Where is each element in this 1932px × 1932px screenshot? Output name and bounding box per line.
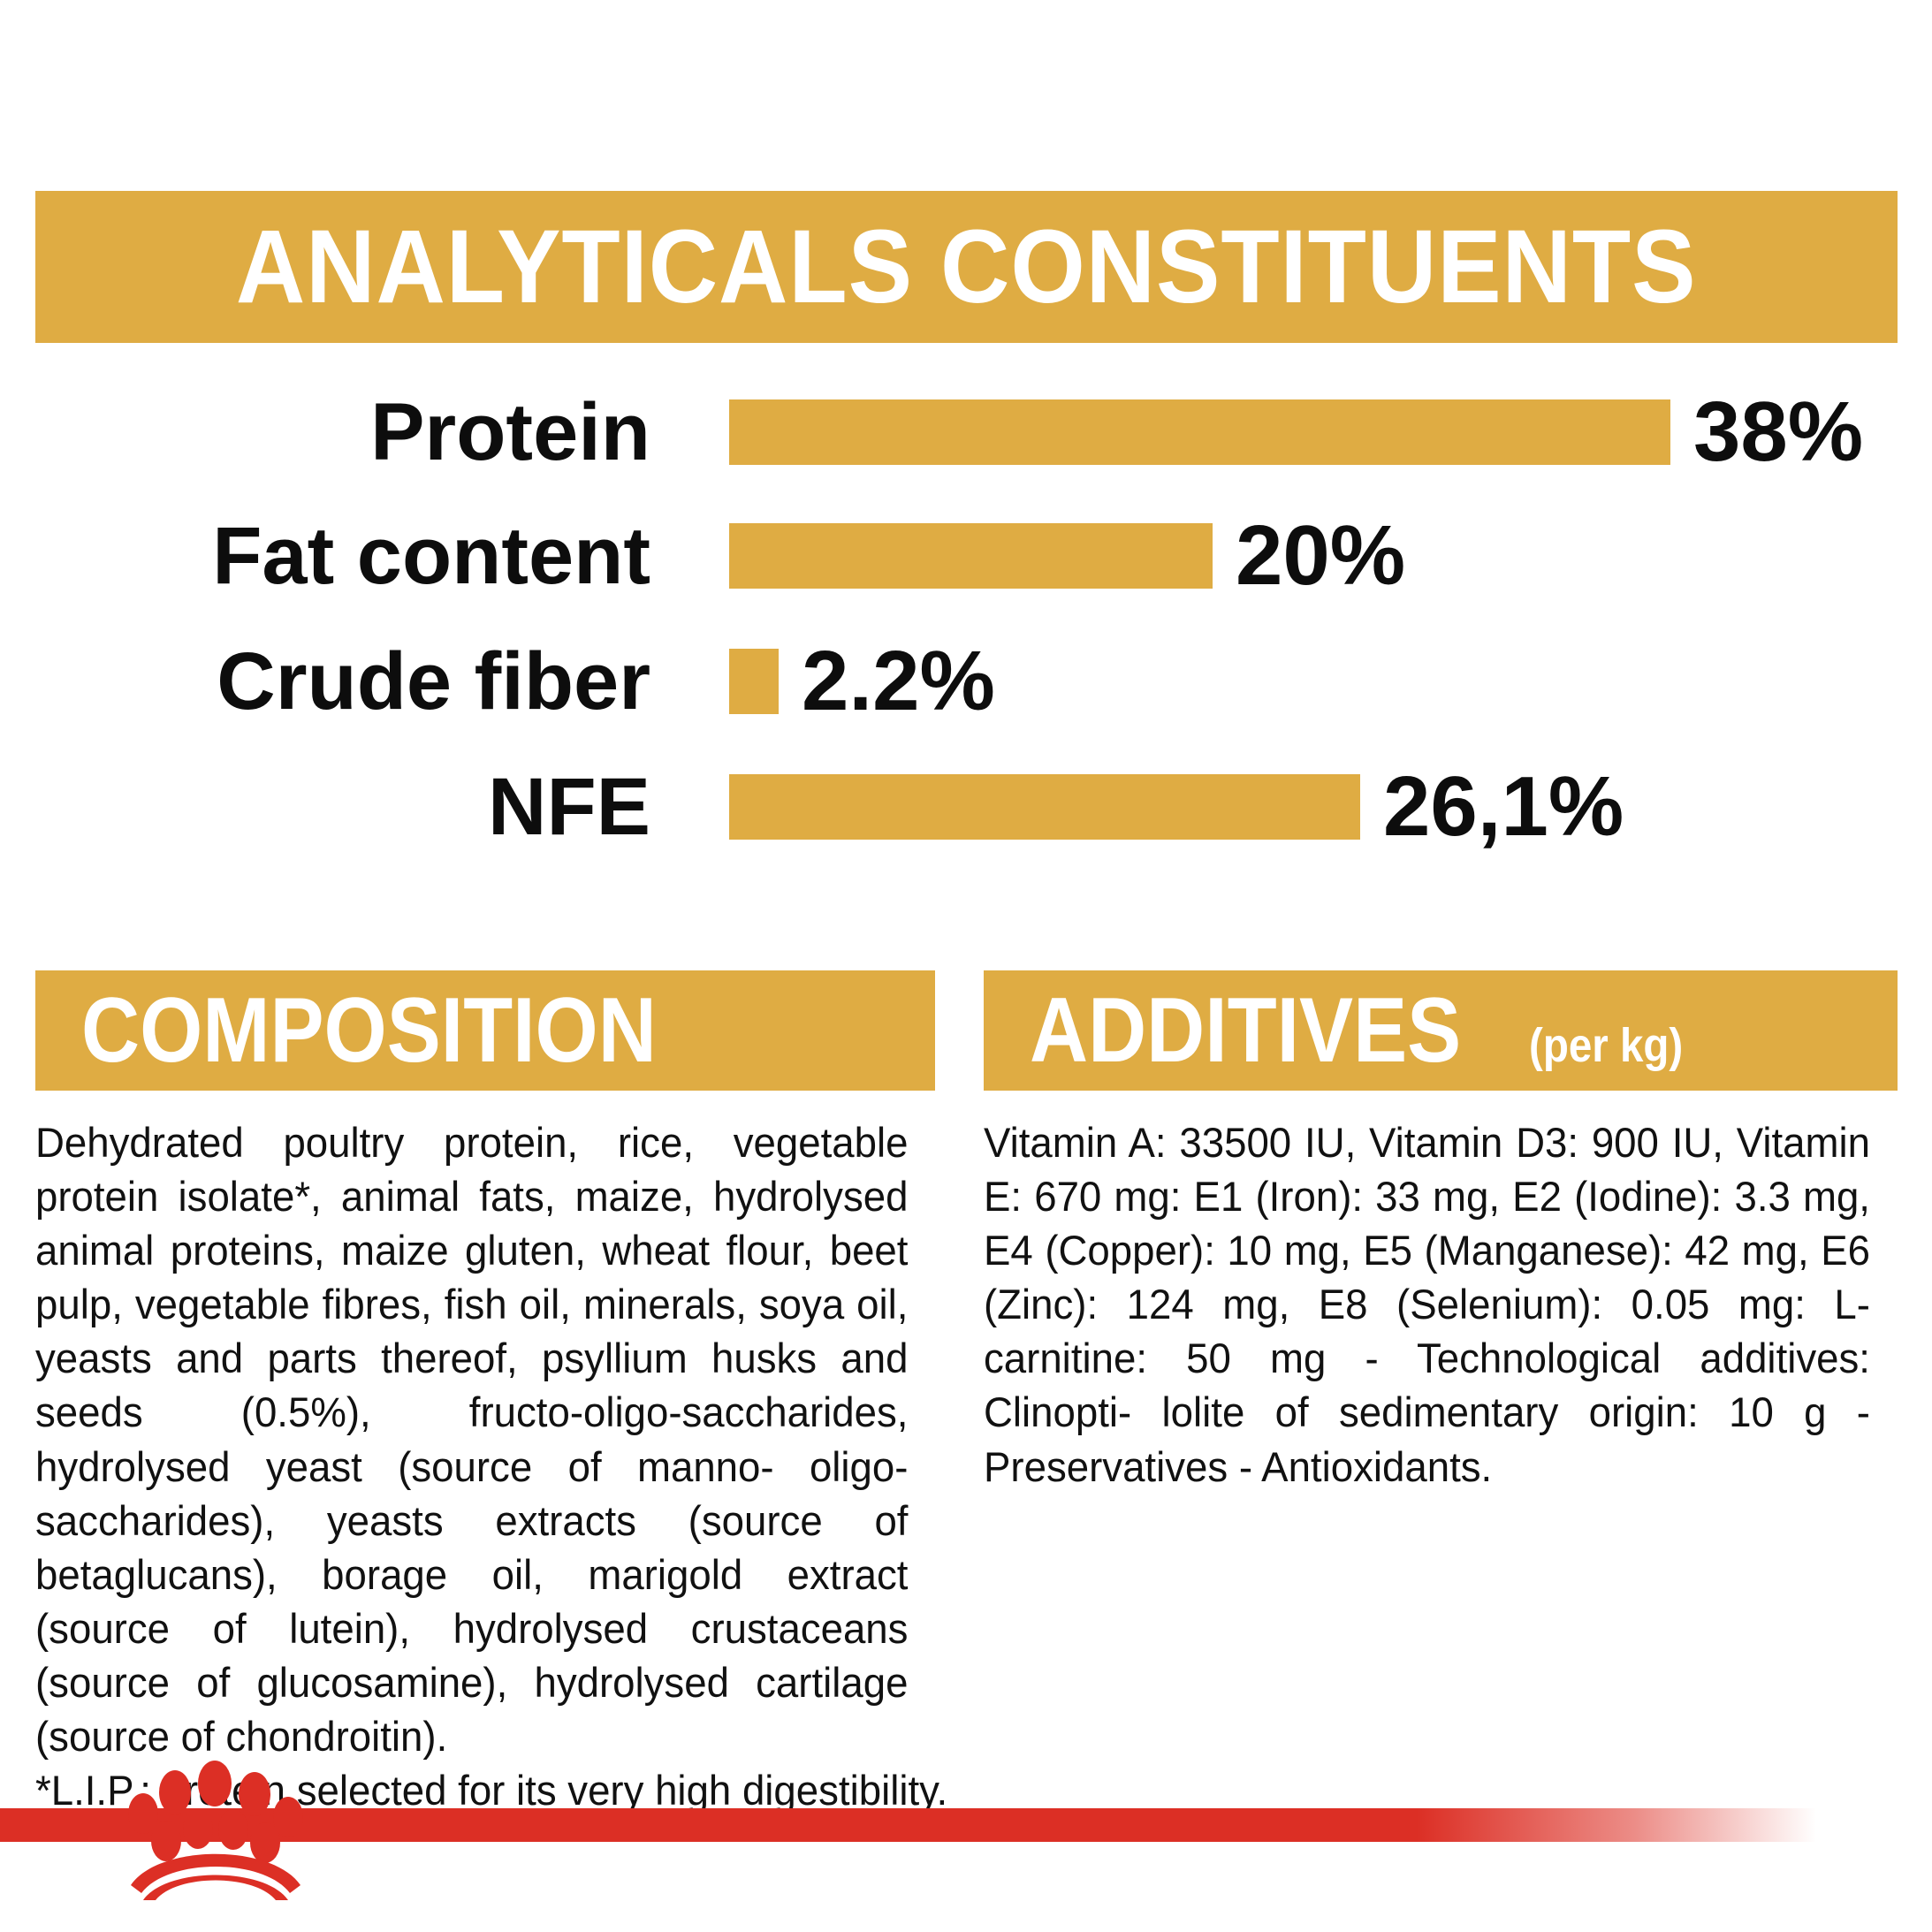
royal-canin-crown-icon (124, 1759, 309, 1900)
composition-heading: COMPOSITION (81, 985, 657, 1076)
analyticals-bar-chart: Protein 38% Fat content 20% Crude fiber … (0, 380, 1932, 875)
additives-body: Vitamin A: 33500 IU, Vitamin D3: 900 IU,… (984, 1115, 1870, 1494)
composition-body-text: Dehydrated poultry protein, rice, vegeta… (35, 1119, 908, 1760)
additives-heading-suffix: (per kg) (1529, 1022, 1683, 1069)
bar-crude-fiber (729, 649, 779, 714)
bar-value-fat-content: 20% (1236, 513, 1405, 598)
bar-label-fat-content: Fat content (0, 515, 650, 597)
additives-header-band: ADDITIVES (per kg) (984, 970, 1898, 1091)
composition-header-band: COMPOSITION (35, 970, 935, 1091)
page-title: ANALYTICALS CONSTITUENTS (236, 215, 1697, 319)
bar-nfe (729, 774, 1360, 840)
bar-value-protein: 38% (1693, 390, 1863, 475)
composition-body: Dehydrated poultry protein, rice, vegeta… (35, 1115, 908, 1817)
chart-row-protein: Protein 38% (0, 380, 1932, 484)
chart-row-nfe: NFE 26,1% (0, 755, 1932, 859)
bar-area-nfe: 26,1% (729, 755, 1932, 859)
bar-label-nfe: NFE (0, 766, 650, 848)
bar-label-protein: Protein (0, 392, 650, 473)
bar-protein (729, 399, 1670, 465)
composition-section: COMPOSITION Dehydrated poultry protein, … (35, 970, 935, 1817)
chart-row-crude-fiber: Crude fiber 2.2% (0, 629, 1932, 734)
bar-area-crude-fiber: 2.2% (729, 629, 1932, 734)
additives-heading: ADDITIVES (1030, 985, 1461, 1076)
bar-value-nfe: 26,1% (1383, 764, 1624, 849)
bar-area-fat-content: 20% (729, 504, 1932, 608)
footer (0, 1750, 1932, 1932)
chart-row-fat-content: Fat content 20% (0, 504, 1932, 608)
bar-label-crude-fiber: Crude fiber (0, 641, 650, 722)
bar-value-crude-fiber: 2.2% (802, 639, 995, 724)
additives-body-text: Vitamin A: 33500 IU, Vitamin D3: 900 IU,… (984, 1119, 1870, 1490)
additives-section: ADDITIVES (per kg) Vitamin A: 33500 IU, … (984, 970, 1898, 1494)
bar-fat-content (729, 523, 1213, 589)
analyticals-header-band: ANALYTICALS CONSTITUENTS (35, 191, 1898, 343)
bar-area-protein: 38% (729, 380, 1932, 484)
